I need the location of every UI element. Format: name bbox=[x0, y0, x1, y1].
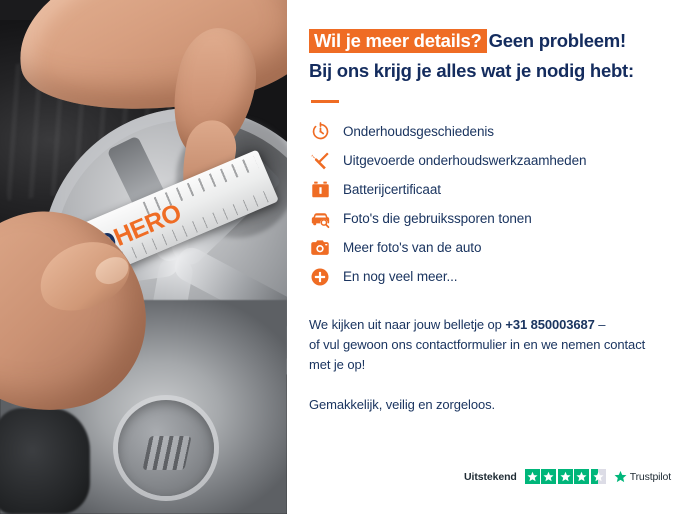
divider bbox=[311, 100, 339, 103]
trustpilot-star bbox=[525, 469, 540, 484]
list-item-label: Meer foto's van de auto bbox=[343, 240, 481, 255]
plus-circle-icon bbox=[309, 266, 331, 288]
trustpilot-rating[interactable]: Uitstekend Trustp bbox=[464, 469, 671, 484]
list-item: Onderhoudsgeschiedenis bbox=[309, 117, 663, 146]
camera-icon bbox=[309, 237, 331, 259]
brake-caliper bbox=[0, 408, 90, 514]
tagline: Gemakkelijk, veilig en zorgeloos. bbox=[309, 395, 663, 415]
promo-card: AUTOHERO Wil je meer details?Geen proble… bbox=[0, 0, 685, 514]
trustpilot-logo: Trustpilot bbox=[614, 470, 671, 483]
list-item-label: Foto's die gebruikssporen tonen bbox=[343, 211, 532, 226]
car-inspection-icon bbox=[309, 208, 331, 230]
list-item: En nog veel meer... bbox=[309, 262, 663, 291]
contact-line2: of vul gewoon ons contactformulier in en… bbox=[309, 337, 645, 352]
headline-rest: Geen probleem! bbox=[489, 30, 626, 51]
list-item: Meer foto's van de auto bbox=[309, 233, 663, 262]
list-item-label: Batterijcertificaat bbox=[343, 182, 441, 197]
trustpilot-star-icon bbox=[614, 470, 627, 483]
list-item: Uitgevoerde onderhoudswerkzaamheden bbox=[309, 146, 663, 175]
contact-line3: met je op! bbox=[309, 357, 365, 372]
page-title: Wil je meer details?Geen probleem! bbox=[309, 28, 663, 53]
battery-icon bbox=[309, 179, 331, 201]
hub-logo bbox=[142, 436, 191, 470]
contact-paragraph: We kijken uit naar jouw belletje op +31 … bbox=[309, 315, 663, 375]
headline-highlight: Wil je meer details? bbox=[309, 29, 487, 53]
trustpilot-rating-word: Uitstekend bbox=[464, 471, 517, 483]
contact-line1-before: We kijken uit naar jouw belletje op bbox=[309, 317, 505, 332]
trustpilot-star-strip bbox=[525, 469, 606, 484]
list-item: Batterijcertificaat bbox=[309, 175, 663, 204]
list-item: Foto's die gebruikssporen tonen bbox=[309, 204, 663, 233]
trustpilot-star-half bbox=[591, 469, 606, 484]
feature-list: Onderhoudsgeschiedenis Uitgevoerd bbox=[309, 117, 663, 291]
wheel-inspection-photo: AUTOHERO bbox=[0, 0, 287, 514]
maintenance-history-icon bbox=[309, 121, 331, 143]
list-item-label: Uitgevoerde onderhoudswerkzaamheden bbox=[343, 153, 586, 168]
phone-number[interactable]: +31 850003687 bbox=[505, 317, 594, 332]
list-item-label: En nog veel meer... bbox=[343, 269, 457, 284]
details-panel: Wil je meer details?Geen probleem! Bij o… bbox=[287, 0, 685, 514]
trustpilot-wordmark: Trustpilot bbox=[630, 471, 671, 483]
trustpilot-star bbox=[541, 469, 556, 484]
trustpilot-star bbox=[574, 469, 589, 484]
page-subtitle: Bij ons krijg je alles wat je nodig hebt… bbox=[309, 58, 663, 83]
tools-icon bbox=[309, 150, 331, 172]
list-item-label: Onderhoudsgeschiedenis bbox=[343, 124, 494, 139]
contact-block: We kijken uit naar jouw belletje op +31 … bbox=[309, 315, 663, 415]
trustpilot-star bbox=[558, 469, 573, 484]
contact-line1-after: – bbox=[595, 317, 606, 332]
